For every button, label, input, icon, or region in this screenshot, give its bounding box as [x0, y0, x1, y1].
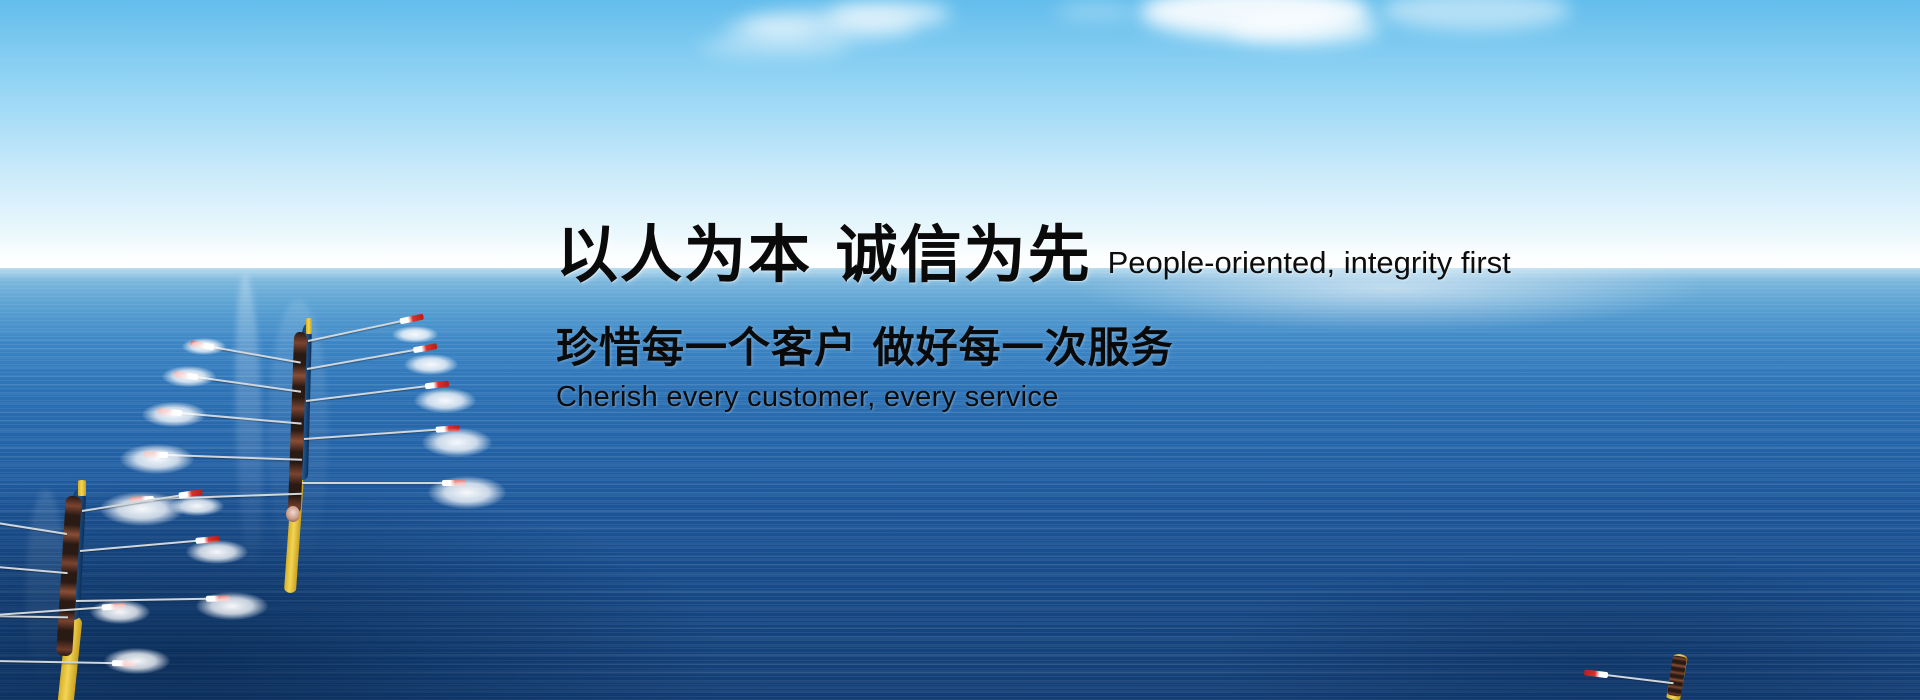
subheadline-english: Cherish every customer, every service — [556, 381, 1896, 414]
cloud-shape — [700, 38, 850, 56]
cloud-shape — [722, 22, 812, 38]
water-splash — [428, 476, 506, 509]
hero-banner: 以人为本 诚信为先 People-oriented, integrity fir… — [0, 0, 1920, 700]
water-splash — [392, 326, 438, 343]
oar — [0, 606, 104, 616]
cloud-shape — [1056, 4, 1136, 18]
boat-bow — [306, 318, 312, 334]
ocean-shadow — [1180, 520, 1920, 700]
headline-chinese: 以人为本 诚信为先 — [556, 222, 1092, 288]
oar — [80, 540, 198, 552]
cloud-shape — [1230, 14, 1380, 44]
water-splash — [422, 428, 492, 457]
rowing-eight-edge — [0, 590, 170, 700]
water-splash — [170, 496, 224, 516]
water-splash — [196, 592, 268, 620]
headline-row: 以人为本 诚信为先 People-oriented, integrity fir… — [556, 222, 1896, 288]
oar — [308, 320, 402, 342]
water-splash — [404, 354, 458, 375]
oar — [1606, 674, 1674, 684]
water-splash — [104, 648, 170, 674]
water-splash — [414, 388, 476, 413]
oar — [302, 482, 444, 484]
subheadline-chinese: 珍惜每一个客户 做好每一次服务 — [556, 314, 1896, 375]
boat-bow — [78, 480, 86, 496]
water-splash — [186, 540, 248, 564]
oar — [82, 494, 181, 512]
headline-english: People-oriented, integrity first — [1108, 245, 1511, 281]
oar — [0, 660, 114, 664]
water-splash — [142, 402, 206, 427]
rower-crew — [1667, 655, 1687, 697]
oar — [307, 349, 416, 370]
banner-copy: 以人为本 诚信为先 People-oriented, integrity fir… — [556, 222, 1896, 414]
cloud-shape — [830, 2, 950, 26]
water-splash — [162, 366, 216, 387]
water-splash — [90, 600, 150, 624]
rowing-eight-far-right — [1600, 636, 1800, 700]
water-splash — [182, 338, 226, 355]
